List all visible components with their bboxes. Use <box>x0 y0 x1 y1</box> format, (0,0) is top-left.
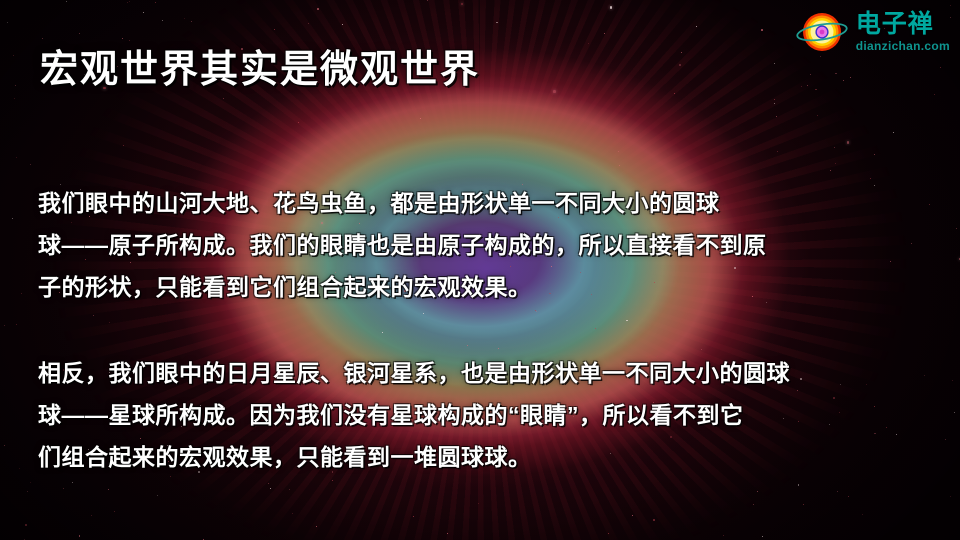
star <box>608 533 609 534</box>
paragraph-2: 相反，我们眼中的日月星辰、银河星系，也是由形状单一不同大小的圆球 球——星球所构… <box>38 352 938 478</box>
star <box>762 536 763 537</box>
star <box>13 55 14 56</box>
star <box>155 2 156 3</box>
star <box>874 154 875 155</box>
star <box>317 8 319 10</box>
brand-logo: 电子禅 dianzichan.com <box>792 4 954 60</box>
star <box>25 524 27 526</box>
paragraph-line: 们组合起来的宏观效果，只能看到一堆圆球球。 <box>38 436 938 478</box>
star <box>72 482 73 483</box>
star <box>16 157 17 158</box>
brand-logo-text: 电子禅 dianzichan.com <box>856 12 950 52</box>
star <box>420 118 421 119</box>
star <box>16 324 17 325</box>
star <box>604 33 605 34</box>
presentation-slide: 电子禅 dianzichan.com 宏观世界其实是微观世界 我们眼中的山河大地… <box>0 0 960 540</box>
star <box>114 511 115 512</box>
star <box>753 504 754 505</box>
brand-domain: dianzichan.com <box>856 40 950 52</box>
star <box>798 484 800 486</box>
star <box>14 98 15 99</box>
star <box>553 90 556 93</box>
star <box>127 2 128 3</box>
star <box>774 63 775 64</box>
star <box>289 489 290 490</box>
star <box>679 64 681 66</box>
atom-planet-icon <box>796 6 848 58</box>
star <box>496 22 498 24</box>
star <box>776 116 777 117</box>
star <box>191 21 192 22</box>
paragraph-line: 球——星球所构成。因为我们没有星球构成的“眼睛”，所以看不到它 <box>38 394 938 436</box>
star <box>801 86 802 87</box>
star <box>308 23 309 24</box>
star <box>447 533 448 534</box>
slide-title: 宏观世界其实是微观世界 <box>40 38 480 93</box>
star <box>835 163 836 164</box>
star <box>696 26 697 27</box>
star <box>723 535 724 536</box>
star <box>945 439 946 440</box>
star <box>332 480 333 481</box>
star <box>15 85 16 86</box>
paragraph-line: 相反，我们眼中的日月星辰、银河星系，也是由形状单一不同大小的圆球 <box>38 352 938 394</box>
star <box>843 80 844 81</box>
star <box>893 132 894 133</box>
star <box>830 170 831 171</box>
star <box>108 489 109 490</box>
star <box>162 20 163 21</box>
star <box>588 43 589 44</box>
star <box>777 151 778 152</box>
star <box>834 147 835 148</box>
star <box>674 93 675 94</box>
star <box>4 445 5 446</box>
star <box>274 29 275 30</box>
star <box>223 98 224 99</box>
star <box>774 103 775 104</box>
star <box>79 33 80 34</box>
star <box>940 67 941 68</box>
star <box>810 74 811 75</box>
star <box>835 73 837 75</box>
paragraph-line: 球——原子所构成。我们的眼睛也是由原子构成的，所以直接看不到原 <box>38 224 938 266</box>
star <box>316 526 317 527</box>
star <box>870 178 871 179</box>
star <box>757 491 758 492</box>
star <box>27 491 28 492</box>
star <box>30 482 31 483</box>
paragraph-line: 子的形状，只能看到它们组合起来的宏观效果。 <box>38 266 938 308</box>
star <box>66 1 67 2</box>
star <box>934 94 935 95</box>
star <box>774 99 775 100</box>
star <box>268 483 269 484</box>
star <box>952 380 953 381</box>
star <box>850 77 851 78</box>
star <box>761 29 763 31</box>
star <box>19 468 20 469</box>
star <box>427 0 428 1</box>
star <box>4 325 5 326</box>
star <box>292 513 293 514</box>
star <box>954 412 955 413</box>
star <box>950 496 951 497</box>
paragraph-line: 我们眼中的山河大地、花鸟虫鱼，都是由形状单一不同大小的圆球 <box>38 182 938 224</box>
star <box>79 535 81 537</box>
star <box>807 85 808 86</box>
star <box>298 122 299 123</box>
star <box>478 503 479 504</box>
star <box>7 22 8 23</box>
star <box>342 24 343 25</box>
star <box>157 495 158 496</box>
star <box>815 89 817 91</box>
star <box>129 1 130 2</box>
star <box>461 3 464 6</box>
star <box>817 115 818 116</box>
star <box>143 12 144 13</box>
star <box>30 164 31 165</box>
star <box>21 293 22 294</box>
star <box>12 218 13 219</box>
star <box>681 52 682 53</box>
star <box>803 504 804 505</box>
star <box>123 145 124 146</box>
star <box>91 515 92 516</box>
brand-name: 电子禅 <box>856 12 950 37</box>
paragraph-1: 我们眼中的山河大地、花鸟虫鱼，都是由形状单一不同大小的圆球 球——原子所构成。我… <box>38 182 938 308</box>
star <box>847 141 850 144</box>
star <box>956 228 957 229</box>
star <box>862 514 863 515</box>
star <box>270 488 271 489</box>
star <box>837 491 838 492</box>
star <box>619 165 620 166</box>
star <box>63 488 64 489</box>
star <box>848 496 849 497</box>
slide-body: 我们眼中的山河大地、花鸟虫鱼，都是由形状单一不同大小的圆球 球——原子所构成。我… <box>38 182 938 478</box>
star <box>653 519 655 521</box>
star <box>184 18 185 19</box>
star <box>413 516 414 517</box>
star <box>618 151 619 152</box>
star <box>632 515 633 516</box>
star <box>610 6 613 9</box>
